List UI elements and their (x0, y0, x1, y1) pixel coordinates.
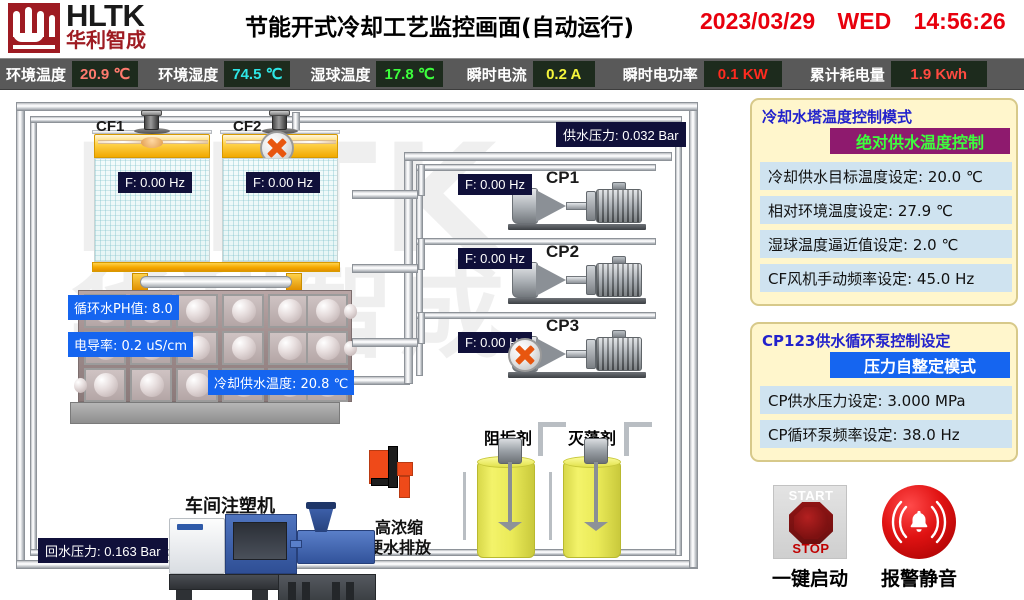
dosing-feed-pipe-1 (538, 422, 543, 456)
company-logo-text: HLTK 华利智成 (66, 2, 146, 51)
start-label: START (774, 488, 848, 503)
dosing-level-gauge-2 (549, 472, 552, 540)
imm-badge (177, 524, 203, 530)
imm-leg-right (252, 590, 268, 600)
status-value: 20.9 ℃ (72, 61, 138, 87)
pipe-loop-right (689, 102, 698, 568)
pump-cone-1 (536, 190, 566, 222)
dosing-mixer-impeller-2 (584, 522, 608, 531)
dosing-mixer-impeller-1 (498, 522, 522, 531)
dosing-feed-cross-2 (624, 422, 652, 427)
status-value: 17.8 ℃ (376, 61, 442, 87)
pump-inlet-stub-3 (352, 338, 418, 347)
imm-leg-left (176, 590, 192, 600)
setpoint-row-wetbulb-approach[interactable]: 湿球温度逼近值设定: 2.0 ℃ (760, 230, 1012, 258)
company-logo-mark (8, 3, 60, 53)
imm-barrel (297, 530, 375, 564)
pump-freq-tag-cp1: F: 0.00 Hz (458, 174, 532, 195)
setpoint-row-target-supply-temp[interactable]: 冷却供水目标温度设定: 20.0 ℃ (760, 162, 1012, 190)
tower-freq-tag-cf1: F: 0.00 Hz (118, 172, 192, 193)
louver-dot (186, 299, 210, 323)
pump-knob-2 (612, 256, 626, 264)
panel-tower-temperature-control: 冷却水塔温度控制模式 绝对供水温度控制 冷却供水目标温度设定: 20.0 ℃ 相… (750, 98, 1018, 306)
fan-motor-1 (144, 113, 159, 130)
setpoint-row-cp-pump-frequency[interactable]: CP循环泵频率设定: 38.0 Hz (760, 420, 1012, 448)
imm-cabinet-vent (288, 582, 296, 600)
fan-motor-2 (272, 113, 287, 130)
imm-cabinet-vent (332, 582, 340, 600)
status-item-wetbulb-temp: 湿球温度 17.8 ℃ (304, 59, 442, 89)
pump-connector-3 (418, 312, 425, 344)
dosing-mixer-motor-1 (498, 438, 522, 464)
dosing-mixer-shaft-2 (594, 462, 598, 528)
datetime-display: 2023/03/29 WED 14:56:26 (700, 8, 1020, 35)
louver-dot (278, 299, 302, 323)
hmi-screen: HLTK 华利智成 节能开式冷却工艺监控画面(自动运行) 2023/03/29 … (0, 0, 1024, 600)
status-item-current: 瞬时电流 0.2 A (461, 59, 595, 89)
dosing-tank-1 (477, 462, 535, 558)
pump-connector-2 (418, 238, 425, 270)
louver-dot (278, 336, 302, 360)
fan-hub-1 (141, 137, 163, 148)
panel-title-tower: 冷却水塔温度控制模式 (762, 106, 912, 127)
pump-base-2 (508, 298, 646, 304)
pump-shaft-1 (566, 202, 588, 210)
tag-cooling-supply-temp: 冷却供水温度: 20.8 ℃ (208, 370, 354, 395)
stop-octagon-icon (789, 502, 833, 544)
logo-en-text: HLTK (66, 2, 146, 29)
pump-suction-line-3 (416, 312, 656, 319)
one-key-start-caption: 一键启动 (762, 564, 858, 591)
tower-label-cf2: CF2 (233, 118, 261, 135)
pump-motor-1 (596, 189, 642, 223)
blowdown-valve-outlet (399, 476, 410, 498)
pump-shaft-2 (566, 276, 588, 284)
logo-cn-text: 华利智成 (66, 29, 146, 51)
pump-suction-line-2 (416, 238, 656, 245)
time-text: 14:56:26 (914, 8, 1006, 34)
tower-freq-tag-cf2: F: 0.00 Hz (246, 172, 320, 193)
blowdown-valve-stem (371, 478, 389, 486)
status-label: 环境湿度 (152, 64, 224, 85)
fan-blade-1b (158, 140, 208, 144)
tower-plinth (70, 402, 340, 424)
pump-fault-badge-cp3[interactable] (508, 338, 542, 372)
header-bar: HLTK 华利智成 节能开式冷却工艺监控画面(自动运行) 2023/03/29 … (0, 0, 1024, 56)
imm-center-window (233, 522, 287, 560)
setpoint-row-cp-supply-pressure[interactable]: CP供水压力设定: 3.000 MPa (760, 386, 1012, 414)
pump-motor-3 (596, 337, 642, 371)
pump-connector-1 (418, 164, 425, 196)
dosing-mixer-shaft-1 (508, 462, 512, 528)
pump-cone-2 (536, 264, 566, 296)
pump-inlet-stub-2 (352, 264, 418, 273)
pipe-inner-right (675, 116, 682, 556)
imm-cabinet-vent (302, 582, 310, 600)
louver-dot (186, 373, 210, 397)
imm-machine-bed (169, 574, 279, 590)
imm-hopper (308, 506, 334, 532)
status-value: 0.1 KW (704, 61, 782, 87)
tag-circulating-water-ph: 循环水PH值: 8.0 (68, 295, 179, 320)
pump-freq-tag-cp2: F: 0.00 Hz (458, 248, 532, 269)
pump-supply-header-top (404, 152, 672, 161)
status-item-ambient-temp: 环境温度 20.9 ℃ (0, 59, 138, 89)
pump-base-1 (508, 224, 646, 230)
basin-side-nozzle (344, 304, 357, 319)
tag-return-pressure: 回水压力: 0.163 Bar (38, 538, 168, 563)
louver-dot (316, 299, 340, 323)
louver-dot (232, 336, 256, 360)
status-label: 环境温度 (0, 64, 72, 85)
dosing-feed-pipe-2 (624, 422, 629, 456)
tag-supply-pressure: 供水压力: 0.032 Bar (556, 122, 686, 147)
status-label: 湿球温度 (304, 64, 376, 85)
imm-cabinet-vent (346, 582, 354, 600)
dosing-feed-cross-1 (538, 422, 566, 427)
status-label: 瞬时电流 (461, 64, 533, 85)
stop-label: STOP (774, 541, 848, 556)
pump-base-3 (508, 372, 646, 378)
pump-inlet-stub-1 (352, 190, 418, 199)
pump-motor-cap-1 (586, 191, 596, 221)
status-label: 累计耗电量 (804, 64, 891, 85)
status-item-energy: 累计耗电量 1.9 Kwh (804, 59, 987, 89)
dosing-tank-2 (563, 462, 621, 558)
louver-dot (232, 299, 256, 323)
status-label: 瞬时电功率 (617, 64, 704, 85)
status-value: 74.5 ℃ (224, 61, 290, 87)
pump-motor-cap-3 (586, 339, 596, 369)
pump-label-cp1: CP1 (546, 168, 579, 188)
pump-label-cp3: CP3 (546, 316, 579, 336)
status-value: 0.2 A (533, 61, 595, 87)
mode-chip-tower[interactable]: 绝对供水温度控制 (830, 128, 1010, 154)
pipe-loop-top (16, 102, 698, 111)
mode-chip-pump[interactable]: 压力自整定模式 (830, 352, 1010, 378)
imm-hopper-cap (306, 502, 336, 509)
panel-pump-control: CP123供水循环泵控制设定 压力自整定模式 CP供水压力设定: 3.000 M… (750, 322, 1018, 462)
louver-dot (316, 336, 340, 360)
dosing-level-gauge-1 (463, 472, 466, 540)
pipe-loop-left (16, 102, 25, 568)
alarm-sound-waves-icon (882, 485, 956, 559)
pump-suction-line-1 (416, 164, 656, 171)
pump-motor-2 (596, 263, 642, 297)
status-item-power: 瞬时电功率 0.1 KW (617, 59, 782, 89)
tower-mid-band (92, 262, 340, 272)
pump-knob-1 (612, 182, 626, 190)
pump-knob-3 (612, 330, 626, 338)
alarm-mute-button[interactable] (882, 485, 956, 559)
plant-mimic-diagram: HLTK 华利智成 CF1 CF2 (0, 90, 740, 600)
tower-label-cf1: CF1 (96, 118, 124, 135)
distribution-header-pipe (140, 276, 292, 288)
pump-motor-cap-2 (586, 265, 596, 295)
date-text: 2023/03/29 (700, 8, 815, 34)
louver-dot (140, 373, 164, 397)
status-strip: 环境温度 20.9 ℃ 环境湿度 74.5 ℃ 湿球温度 17.8 ℃ 瞬时电流… (0, 58, 1024, 90)
tower-outlet-pipe (348, 376, 410, 385)
setpoint-row-cf-manual-frequency[interactable]: CF风机手动频率设定: 45.0 Hz (760, 264, 1012, 292)
imm-nozzle (290, 540, 302, 548)
louver-dot (94, 373, 118, 397)
panel-title-pump: CP123供水循环泵控制设定 (762, 330, 950, 351)
one-key-start-button[interactable]: START STOP (773, 485, 847, 559)
setpoint-row-relative-ambient[interactable]: 相对环境温度设定: 27.9 ℃ (760, 196, 1012, 224)
pipe-inner-left (30, 116, 37, 556)
pump-shaft-3 (566, 350, 588, 358)
tag-conductivity: 电导率: 0.2 uS/cm (68, 332, 193, 357)
dosing-mixer-motor-2 (584, 438, 608, 464)
status-item-ambient-humidity: 环境湿度 74.5 ℃ (152, 59, 290, 89)
status-value: 1.9 Kwh (891, 61, 987, 87)
page-title: 节能开式冷却工艺监控画面(自动运行) (245, 8, 665, 42)
alarm-mute-caption: 报警静音 (871, 564, 967, 591)
weekday-text: WED (838, 8, 892, 34)
basin-side-nozzle (74, 378, 87, 393)
pump-label-cp2: CP2 (546, 242, 579, 262)
blowdown-valve-tee (397, 462, 413, 476)
